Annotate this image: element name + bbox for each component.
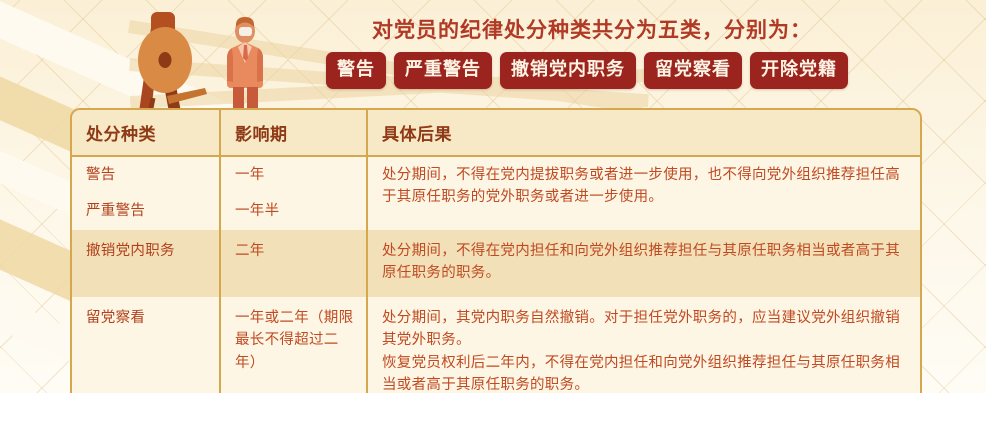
badge-probation[interactable]: 留党察看 [644,52,742,89]
badge-serious-warning[interactable]: 严重警告 [394,52,492,89]
infographic-poster: 对党员的纪律处分种类共分为五类，分别为： 警告 严重警告 撤销党内职务 留党察看… [0,0,986,429]
cell-consequence: 处分期间，不得在党内担任和向党外组织推荐担任与其原任职务相当或者高于其原任职务的… [367,230,920,297]
badge-remove-party-post[interactable]: 撤销党内职务 [500,52,636,89]
cell-period: 二年 [220,230,367,297]
column-header-kind: 处分种类 [72,110,220,156]
cell-kind: 警告 [72,156,220,193]
table-header-row: 处分种类 影响期 具体后果 [72,110,920,156]
discipline-table-container: 处分种类 影响期 具体后果 警告 一年 处分期间，不得在党内提拔职务或者进一步使… [70,108,922,429]
discipline-table: 处分种类 影响期 具体后果 警告 一年 处分期间，不得在党内提拔职务或者进一步使… [72,110,920,429]
table-row: 警告 一年 处分期间，不得在党内提拔职务或者进一步使用，也不得向党外组织推荐担任… [72,156,920,193]
badge-warning[interactable]: 警告 [326,52,386,89]
illustration-group [95,0,305,125]
standing-person-icon [227,17,263,120]
cell-kind: 留党察看 [72,297,220,409]
column-header-consequence: 具体后果 [367,110,920,156]
cell-kind: 撤销党内职务 [72,230,220,297]
table-row: 撤销党内职务 二年 处分期间，不得在党内担任和向党外组织推荐担任与其原任职务相当… [72,230,920,297]
cell-consequence: 处分期间，不得在党内提拔职务或者进一步使用，也不得向党外组织推荐担任高于其原任职… [367,156,920,230]
badge-expulsion[interactable]: 开除党籍 [750,52,848,89]
cell-period: 一年半 [220,193,367,229]
cell-kind: 严重警告 [72,193,220,229]
column-header-period: 影响期 [220,110,367,156]
discipline-badge-list: 警告 严重警告 撤销党内职务 留党察看 开除党籍 [326,52,848,89]
cell-period: 一年或二年（期限最长不得超过二年） [220,297,367,409]
cell-consequence: 处分期间，其党内职务自然撤销。对于担任党外职务的，应当建议党外组织撤销其党外职务… [367,297,920,409]
bottom-white-band [0,393,986,429]
compass-drafting-icon [138,12,207,118]
table-row: 留党察看 一年或二年（期限最长不得超过二年） 处分期间，其党内职务自然撤销。对于… [72,297,920,409]
cell-period: 一年 [220,156,367,193]
page-title: 对党员的纪律处分种类共分为五类，分别为： [372,14,812,44]
